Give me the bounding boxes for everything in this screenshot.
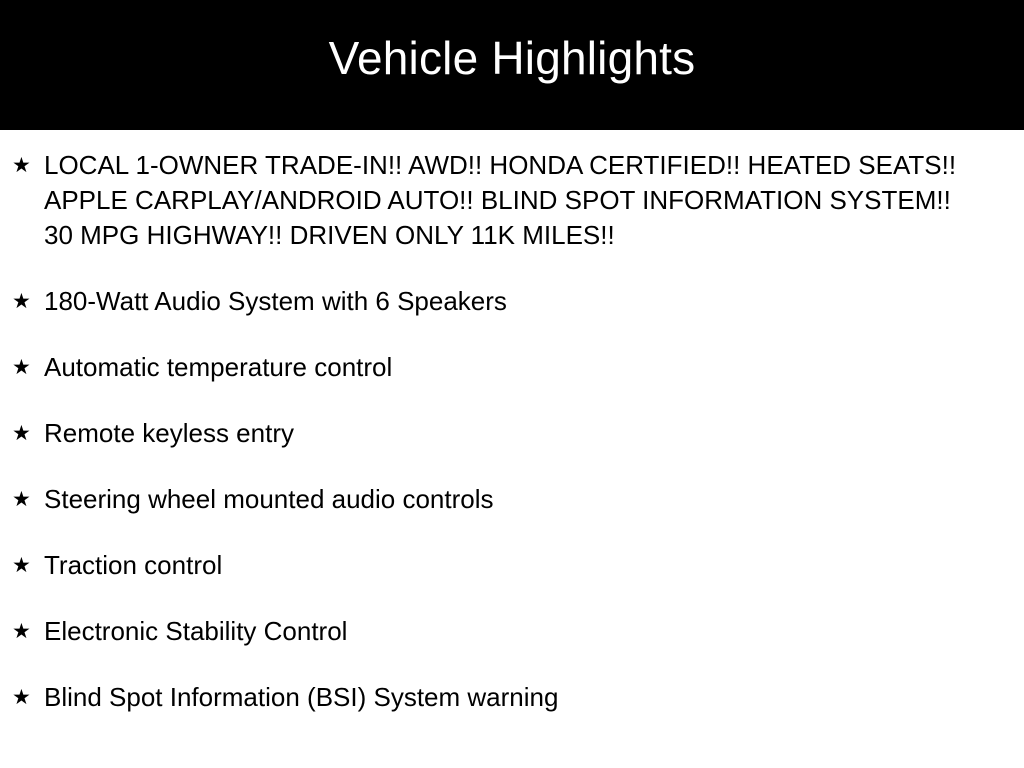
list-item-label: Electronic Stability Control [44, 614, 976, 649]
list-item-label: Remote keyless entry [44, 416, 976, 451]
star-bullet-icon: ★ [12, 482, 36, 517]
star-bullet-icon: ★ [12, 350, 36, 385]
vehicle-highlights-page: Vehicle Highlights ★ LOCAL 1-OWNER TRADE… [0, 0, 1024, 768]
header-banner: Vehicle Highlights [0, 0, 1024, 130]
list-item: ★ Steering wheel mounted audio controls [12, 482, 976, 517]
list-item: ★ Electronic Stability Control [12, 614, 976, 649]
list-item-label: 180-Watt Audio System with 6 Speakers [44, 284, 976, 319]
list-item: ★ Traction control [12, 548, 976, 583]
list-item-label: LOCAL 1-OWNER TRADE-IN!! AWD!! HONDA CER… [44, 148, 976, 253]
list-item-label: Traction control [44, 548, 976, 583]
list-item: ★ Blind Spot Information (BSI) System wa… [12, 680, 976, 715]
star-bullet-icon: ★ [12, 416, 36, 451]
star-bullet-icon: ★ [12, 548, 36, 583]
star-bullet-icon: ★ [12, 148, 36, 183]
list-item: ★ 180-Watt Audio System with 6 Speakers [12, 284, 976, 319]
star-bullet-icon: ★ [12, 614, 36, 649]
list-item-label: Steering wheel mounted audio controls [44, 482, 976, 517]
star-bullet-icon: ★ [12, 680, 36, 715]
list-item-label: Automatic temperature control [44, 350, 976, 385]
list-item: ★ LOCAL 1-OWNER TRADE-IN!! AWD!! HONDA C… [12, 148, 976, 253]
page-title: Vehicle Highlights [329, 35, 696, 81]
list-item: ★ Remote keyless entry [12, 416, 976, 451]
star-bullet-icon: ★ [12, 284, 36, 319]
list-item-label: Blind Spot Information (BSI) System warn… [44, 680, 976, 715]
highlights-list: ★ LOCAL 1-OWNER TRADE-IN!! AWD!! HONDA C… [0, 130, 1024, 768]
list-item: ★ Automatic temperature control [12, 350, 976, 385]
